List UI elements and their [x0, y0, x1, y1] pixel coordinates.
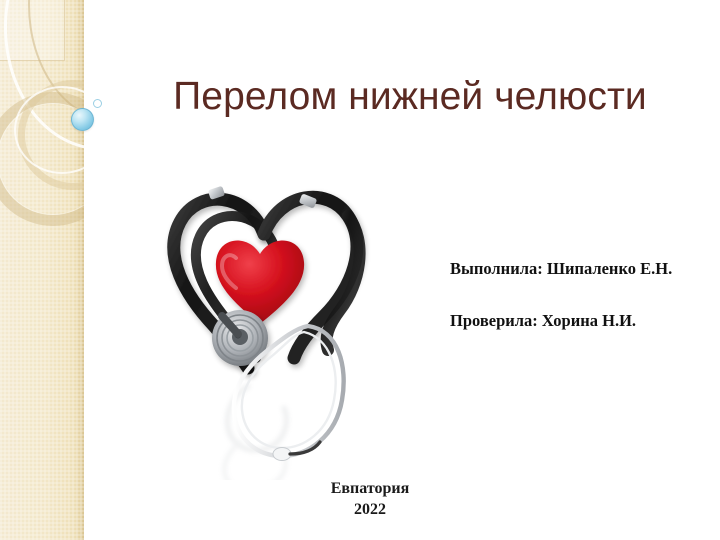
stethoscope-heart-image — [152, 150, 414, 480]
performed-by-line: Выполнила: Шипаленко Е.Н. — [450, 260, 718, 278]
blue-bubble-large-icon — [71, 108, 94, 131]
checked-by-line: Проверила: Хорина Н.И. — [450, 312, 718, 330]
author-credits: Выполнила: Шипаленко Е.Н. Проверила: Хор… — [450, 260, 718, 330]
blue-bubble-small-icon — [93, 99, 102, 108]
presentation-slide: Перелом нижней челюсти — [0, 0, 720, 540]
stethoscope-eartip — [273, 448, 291, 461]
decorative-sidebar — [0, 0, 84, 540]
page-title: Перелом нижней челюсти — [140, 74, 680, 120]
footer-block: Евпатория 2022 — [250, 478, 490, 520]
footer-year: 2022 — [250, 499, 490, 520]
stethoscope-heart-illustration-icon — [152, 150, 414, 480]
credits-spacer — [450, 278, 718, 312]
footer-city: Евпатория — [250, 478, 490, 499]
